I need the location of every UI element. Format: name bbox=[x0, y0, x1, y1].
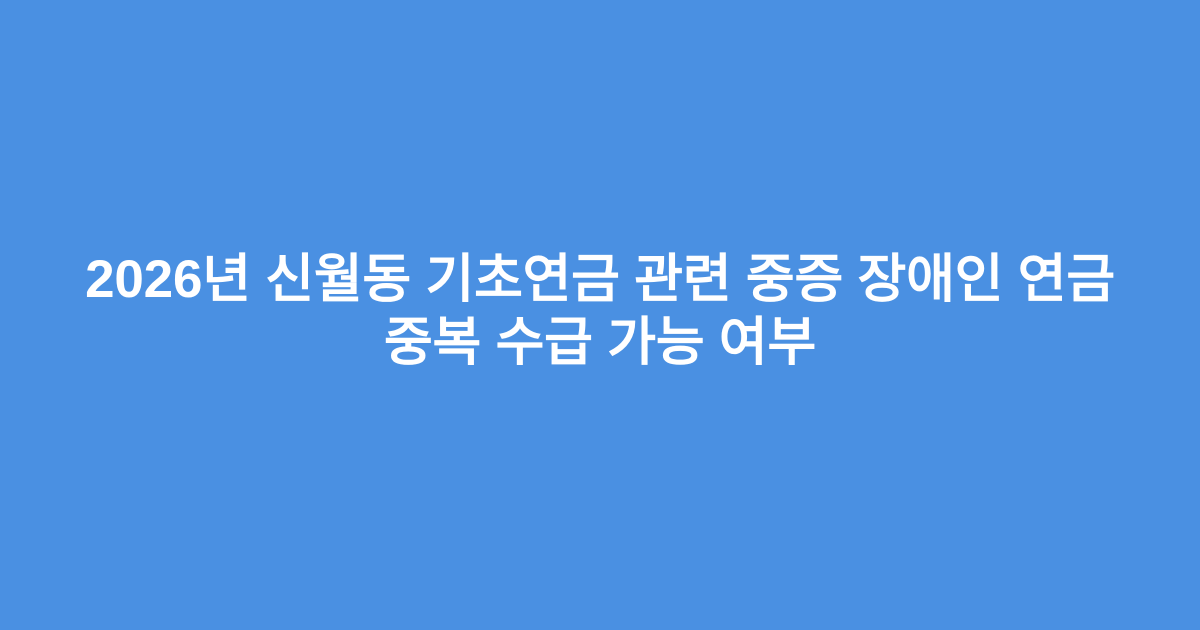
page-title-line-1: 2026년 신월동 기초연금 관련 중증 장애인 연금 bbox=[85, 248, 1115, 311]
og-title-card: 2026년 신월동 기초연금 관련 중증 장애인 연금 중복 수급 가능 여부 bbox=[0, 0, 1200, 630]
page-title-line-2: 중복 수급 가능 여부 bbox=[384, 311, 816, 374]
page-title: 2026년 신월동 기초연금 관련 중증 장애인 연금 중복 수급 가능 여부 bbox=[80, 248, 1120, 374]
